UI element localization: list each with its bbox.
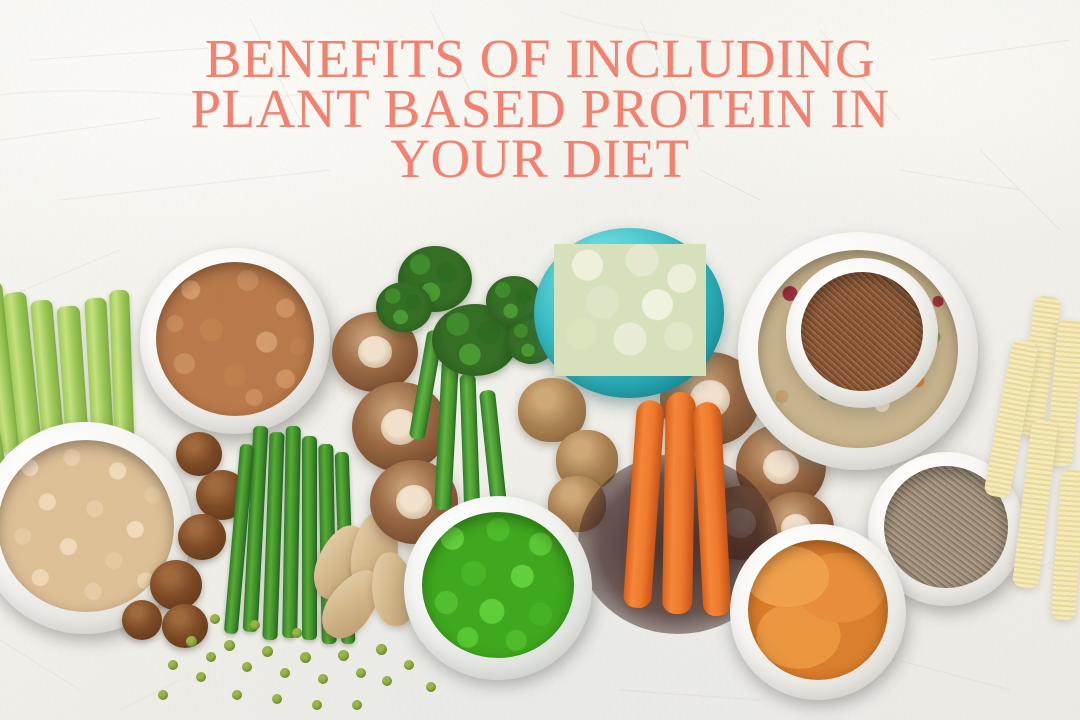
title-line-2: PLANT BASED PROTEIN IN: [0, 84, 1080, 134]
teal-bowl: [534, 228, 724, 398]
poster-canvas: BENEFITS OF INCLUDING PLANT BASED PROTEI…: [0, 0, 1080, 720]
page-title: BENEFITS OF INCLUDING PLANT BASED PROTEI…: [0, 34, 1080, 184]
title-line-3: YOUR DIET: [0, 134, 1080, 184]
food-flax-seeds-bowl: [786, 258, 938, 408]
title-line-1: BENEFITS OF INCLUDING: [0, 34, 1080, 84]
